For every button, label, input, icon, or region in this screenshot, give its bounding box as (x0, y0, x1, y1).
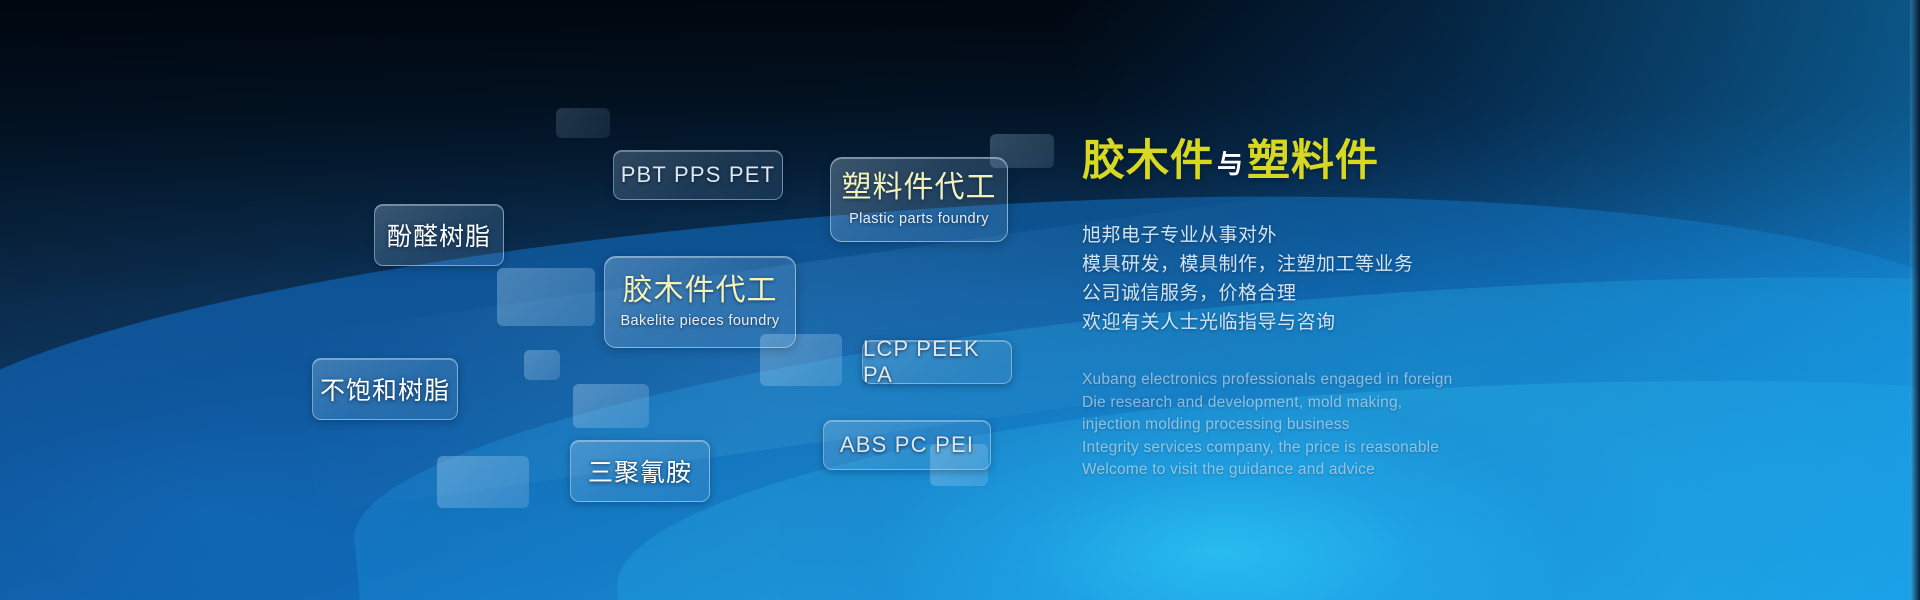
headline-part-2: 塑料件 (1247, 137, 1379, 185)
copy-block: 胶木件与塑料件 旭邦电子专业从事对外 模具研发，模具制作，注塑加工等业务 公司诚… (1082, 140, 1822, 482)
card-title-cn: 胶木件代工 (623, 275, 778, 307)
headline-part-1: 胶木件 (1082, 137, 1214, 185)
material-chip-lcp-peek-pa[interactable]: LCP PEEK PA (862, 340, 1012, 384)
banner-stage: 酚醛树脂 不饱和树脂 三聚氰胺 PBT PPS PET LCP PEEK PA … (0, 0, 1920, 600)
decorative-rect-4 (524, 350, 560, 380)
background-right-edge (1910, 0, 1920, 600)
chinese-description-line: 公司诚信服务，价格合理 (1082, 279, 1822, 308)
headline-conjunction: 与 (1214, 149, 1247, 179)
material-chip-label: PBT PPS PET (621, 162, 776, 188)
chinese-description-line: 模具研发，模具制作，注塑加工等业务 (1082, 250, 1822, 279)
english-description-line: Xubang electronics professionals engaged… (1082, 369, 1822, 392)
material-chip-pbt-pps-pet[interactable]: PBT PPS PET (613, 150, 783, 200)
resin-chip-label: 三聚氰胺 (588, 453, 692, 489)
english-description-line: Die research and development, mold makin… (1082, 392, 1822, 415)
english-description-line: Welcome to visit the guidance and advice (1082, 459, 1822, 482)
decorative-rect-5 (573, 384, 649, 428)
material-chip-abs-pc-pei[interactable]: ABS PC PEI (823, 420, 991, 470)
material-chip-label: ABS PC PEI (840, 432, 974, 458)
english-description-list: Xubang electronics professionals engaged… (1082, 369, 1822, 482)
resin-chip-label: 酚醛树脂 (387, 217, 491, 253)
resin-chip-phenolic[interactable]: 酚醛树脂 (374, 204, 504, 266)
chinese-description-line: 欢迎有关人士光临指导与咨询 (1082, 308, 1822, 337)
page-title: 胶木件与塑料件 (1082, 140, 1822, 183)
resin-chip-unsaturated[interactable]: 不饱和树脂 (312, 358, 458, 420)
card-bakelite-pieces-foundry[interactable]: 胶木件代工 Bakelite pieces foundry (604, 256, 796, 348)
english-description-line: Integrity services company, the price is… (1082, 437, 1822, 460)
decorative-rect-7 (437, 456, 529, 508)
material-chip-label: LCP PEEK PA (863, 336, 1011, 388)
chinese-description-line: 旭邦电子专业从事对外 (1082, 221, 1822, 250)
card-title-en: Plastic parts foundry (849, 211, 989, 227)
decorative-rect-3 (497, 268, 595, 326)
card-title-cn: 塑料件代工 (842, 172, 997, 204)
resin-chip-label: 不饱和树脂 (320, 371, 450, 407)
card-title-en: Bakelite pieces foundry (620, 313, 779, 329)
decorative-rect-1 (556, 108, 610, 138)
english-description-line: injection molding processing business (1082, 414, 1822, 437)
chinese-description-list: 旭邦电子专业从事对外 模具研发，模具制作，注塑加工等业务 公司诚信服务，价格合理… (1082, 221, 1822, 337)
resin-chip-melamine[interactable]: 三聚氰胺 (570, 440, 710, 502)
card-plastic-parts-foundry[interactable]: 塑料件代工 Plastic parts foundry (830, 157, 1008, 242)
